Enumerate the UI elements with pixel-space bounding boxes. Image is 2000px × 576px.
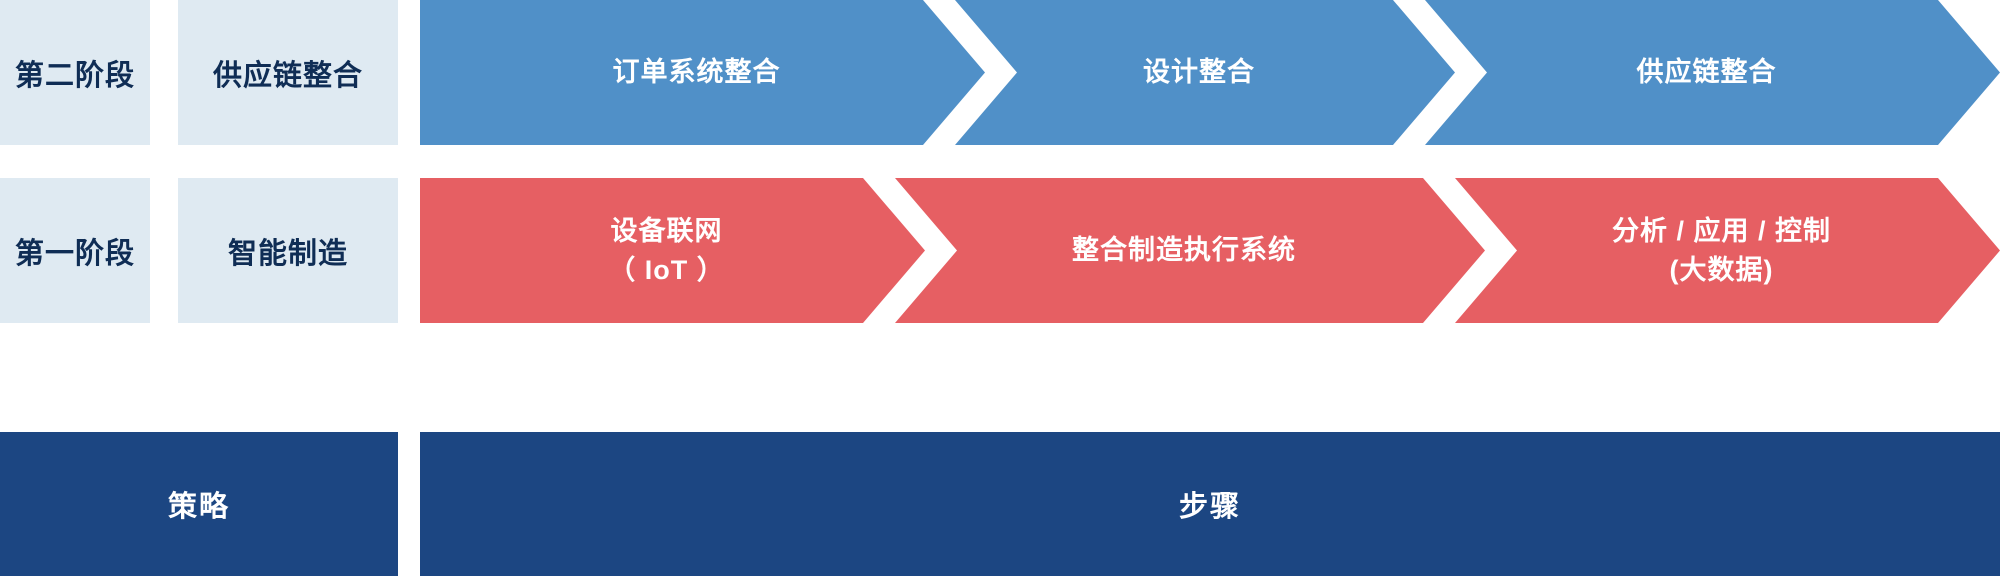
- phase-label-row1-text: 第二阶段: [15, 52, 135, 94]
- footer-steps-text: 步骤: [1179, 483, 1241, 525]
- step-arrow-row2-3[interactable]: 分析 / 应用 / 控制 (大数据): [1455, 178, 2000, 323]
- phase-label-row1: 第二阶段: [0, 0, 150, 145]
- footer-strategy-text: 策略: [168, 483, 230, 525]
- category-label-row2: 智能制造: [178, 178, 398, 323]
- category-label-row1-text: 供应链整合: [213, 52, 363, 94]
- step-arrow-row2-2[interactable]: 整合制造执行系统: [895, 178, 1485, 323]
- step-arrow-row1-2[interactable]: 设计整合: [955, 0, 1455, 145]
- step-arrow-row1-2-text: 设计整合: [1143, 53, 1255, 91]
- step-arrow-row1-1[interactable]: 订单系统整合: [420, 0, 985, 145]
- phase-label-row2: 第一阶段: [0, 178, 150, 323]
- step-arrow-row2-2-text: 整合制造执行系统: [1072, 231, 1296, 269]
- category-label-row2-text: 智能制造: [228, 230, 348, 272]
- step-arrow-row1-3[interactable]: 供应链整合: [1425, 0, 2000, 145]
- step-arrow-row2-1-text: 设备联网 （ IoT ）: [608, 212, 725, 289]
- diagram-canvas: 第二阶段 供应链整合 订单系统整合 设计整合 供应链整合 第一阶段 智能制造 设…: [0, 0, 2000, 576]
- step-arrow-row1-3-text: 供应链整合: [1637, 53, 1777, 91]
- footer-strategy-bar[interactable]: 策略: [0, 432, 398, 576]
- step-arrow-row2-1[interactable]: 设备联网 （ IoT ）: [420, 178, 925, 323]
- step-arrow-row2-3-text: 分析 / 应用 / 控制 (大数据): [1612, 212, 1831, 289]
- category-label-row1: 供应链整合: [178, 0, 398, 145]
- phase-label-row2-text: 第一阶段: [15, 230, 135, 272]
- footer-steps-bar[interactable]: 步骤: [420, 432, 2000, 576]
- step-arrow-row1-1-text: 订单系统整合: [613, 53, 781, 91]
